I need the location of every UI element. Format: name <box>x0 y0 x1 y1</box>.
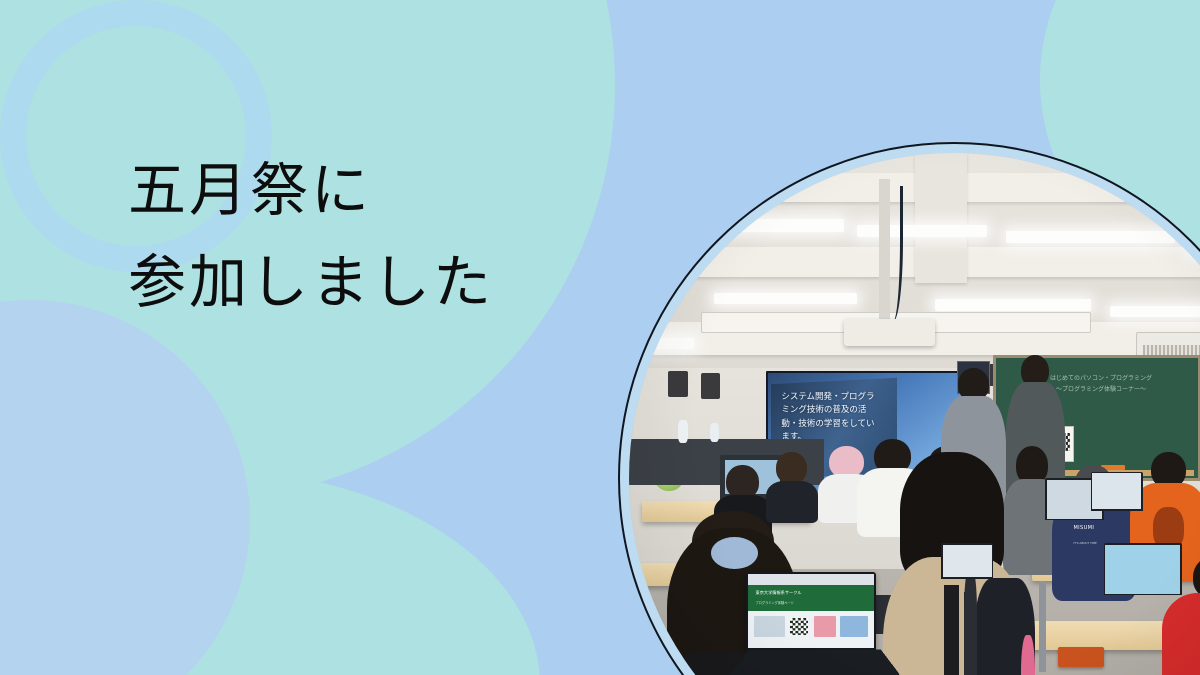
bottle <box>678 420 688 443</box>
wall-speaker <box>668 371 688 397</box>
laptop-screen: 東京大学情報系サークル プログラミング体験ページ <box>748 574 874 648</box>
ceiling-beam-cross <box>915 153 967 283</box>
fluorescent-light <box>714 293 857 305</box>
webpage-subtitle: プログラミング体験ページ <box>756 600 794 605</box>
laptop-screen <box>1105 545 1180 594</box>
fluorescent-light <box>1110 306 1200 318</box>
webpage-card <box>754 616 784 637</box>
laptop-screen <box>1092 473 1141 509</box>
hair-scrunchie <box>711 537 758 569</box>
projected-slide-text: システム開発・プログラ ミング技術の普及の活 動・技術の学習をしてい ます。 <box>781 391 951 444</box>
head <box>776 452 807 484</box>
fluorescent-light <box>688 219 844 231</box>
chair <box>1058 647 1104 667</box>
laptop-open: 東京大学情報系サークル プログラミング体験ページ <box>746 572 876 650</box>
tshirt-tagline: IT'S ABOUT TIME <box>1073 541 1096 545</box>
slide-canvas: 五月祭に 参加しました <box>0 0 1200 675</box>
photo-image: システム開発・プログラ ミング技術の普及の活 動・技術の学習をしてい ます。 は… <box>629 153 1200 675</box>
laptop <box>1104 543 1182 595</box>
laptop-screen <box>943 545 992 578</box>
webpage-hero: 東京大学情報系サークル プログラミング体験ページ <box>748 585 874 612</box>
torso <box>1162 593 1200 675</box>
fluorescent-light <box>1006 231 1175 243</box>
laptop <box>941 543 993 579</box>
tshirt-logo: MISUMI <box>1073 525 1094 531</box>
classroom-scene: システム開発・プログラ ミング技術の普及の活 動・技術の学習をしてい ます。 は… <box>629 153 1200 675</box>
webpage-qr <box>790 618 809 635</box>
fluorescent-light <box>642 338 694 348</box>
page-title: 五月祭に 参加しました <box>128 144 588 328</box>
fluorescent-light <box>935 299 1091 311</box>
laptop <box>1091 472 1143 511</box>
photo-circle-frame: システム開発・プログラ ミング技術の普及の活 動・技術の学習をしてい ます。 は… <box>618 142 1200 675</box>
webpage-card <box>840 616 868 637</box>
laptop-keyboard <box>728 650 901 675</box>
webpage-body <box>748 611 874 648</box>
jacket-stripe <box>944 585 959 675</box>
bottle <box>710 423 719 443</box>
wall-speaker <box>701 373 721 399</box>
fluorescent-light <box>857 225 987 237</box>
browser-toolbar <box>748 574 874 584</box>
backpack-strap <box>964 571 978 675</box>
fluorescent-light <box>1188 241 1200 253</box>
webpage-title: 東京大学情報系サークル <box>756 590 802 596</box>
ceiling-projector <box>844 319 935 346</box>
webpage-card <box>814 616 837 637</box>
